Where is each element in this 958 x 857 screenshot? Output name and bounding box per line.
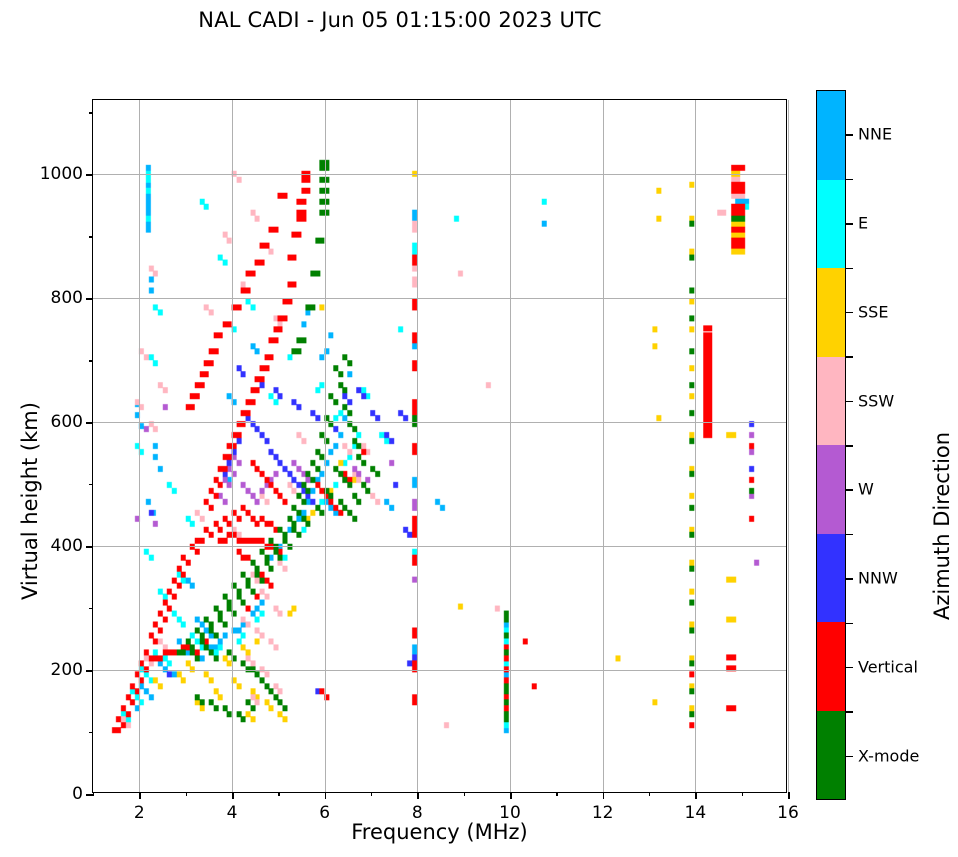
colorbar-tick [846, 667, 853, 669]
colorbar-tick [846, 578, 853, 580]
colorbar-tick [846, 756, 853, 758]
colorbar-tick [846, 489, 853, 491]
gridline-horizontal [93, 174, 786, 175]
gridline-vertical [139, 100, 140, 792]
colorbar-segment-sse[interactable] [817, 268, 845, 357]
x-tick-minor [649, 792, 650, 796]
gridline-vertical [788, 100, 789, 792]
colorbar-segment-ssw[interactable] [817, 357, 845, 446]
colorbar-boundary-tick [846, 711, 853, 713]
colorbar-boundary-tick [846, 268, 853, 270]
y-tick-minor [89, 608, 93, 609]
colorbar-label-nne: NNE [858, 125, 892, 144]
gridline-vertical [232, 100, 233, 792]
y-tick-label: 400 [51, 536, 83, 556]
colorbar-boundary-tick [846, 623, 853, 625]
x-tick-minor [464, 792, 465, 796]
colorbar-segment-nnw[interactable] [817, 534, 845, 623]
y-tick-label: 600 [51, 412, 83, 432]
x-axis-label: Frequency (MHz) [92, 820, 787, 844]
x-tick-minor [371, 792, 372, 796]
colorbar-segment-e[interactable] [817, 180, 845, 269]
colorbar-label-sse: SSE [858, 302, 888, 321]
colorbar-segment-x-mode[interactable] [817, 711, 845, 800]
y-tick-label: 200 [51, 660, 83, 680]
ionogram-plot-area: 24681012141602004006008001000 [92, 99, 787, 793]
y-tick [86, 298, 93, 300]
y-tick [86, 174, 93, 176]
gridline-horizontal [93, 670, 786, 671]
x-tick [232, 792, 234, 799]
gridline-vertical [695, 100, 696, 792]
colorbar-segment-vertical[interactable] [817, 622, 845, 711]
colorbar-label-e: E [858, 214, 868, 233]
y-axis-label: Virtual height (km) [18, 402, 42, 600]
x-tick-minor [186, 792, 187, 796]
colorbar-boundary-tick [846, 179, 853, 181]
colorbar-segment-w[interactable] [817, 445, 845, 534]
y-tick-minor [89, 732, 93, 733]
y-tick-minor [89, 360, 93, 361]
y-tick-minor [89, 112, 93, 113]
x-tick-minor [742, 792, 743, 796]
y-tick-minor [89, 484, 93, 485]
x-tick-minor [556, 792, 557, 796]
colorbar-label-vertical: Vertical [858, 657, 918, 676]
y-tick [86, 422, 93, 424]
gridline-horizontal [93, 546, 786, 547]
colorbar-label-nnw: NNW [858, 569, 898, 588]
y-tick [86, 546, 93, 548]
y-tick [86, 670, 93, 672]
colorbar-boundary-tick [846, 356, 853, 358]
x-tick [417, 792, 419, 799]
gridline-vertical [510, 100, 511, 792]
gridline-horizontal [93, 422, 786, 423]
x-tick [139, 792, 141, 799]
colorbar-title: Azimuth Direction [930, 432, 954, 620]
y-tick-minor [89, 236, 93, 237]
gridline-vertical [325, 100, 326, 792]
y-tick [86, 794, 93, 796]
azimuth-colorbar[interactable] [816, 90, 846, 800]
colorbar-tick [846, 134, 853, 136]
y-tick-label: 800 [51, 288, 83, 308]
x-tick-minor [93, 792, 94, 796]
x-tick [788, 792, 790, 799]
gridline-vertical [417, 100, 418, 792]
x-tick [325, 792, 327, 799]
colorbar-label-x-mode: X-mode [858, 746, 919, 765]
colorbar-boundary-tick [846, 445, 853, 447]
colorbar-segment-nne[interactable] [817, 91, 845, 180]
gridline-horizontal [93, 298, 786, 299]
colorbar-tick [846, 312, 853, 314]
x-tick [695, 792, 697, 799]
colorbar-label-w: W [858, 480, 874, 499]
gridline-vertical [603, 100, 604, 792]
y-tick-label: 0 [72, 784, 83, 804]
page-title: NAL CADI - Jun 05 01:15:00 2023 UTC [0, 8, 800, 32]
colorbar-tick [846, 223, 853, 225]
x-tick [603, 792, 605, 799]
y-tick-label: 1000 [40, 164, 83, 184]
colorbar-boundary-tick [846, 534, 853, 536]
x-tick-minor [278, 792, 279, 796]
x-tick [510, 792, 512, 799]
colorbar-label-ssw: SSW [858, 391, 894, 410]
scatter-data-canvas [93, 100, 786, 792]
colorbar-tick [846, 401, 853, 403]
